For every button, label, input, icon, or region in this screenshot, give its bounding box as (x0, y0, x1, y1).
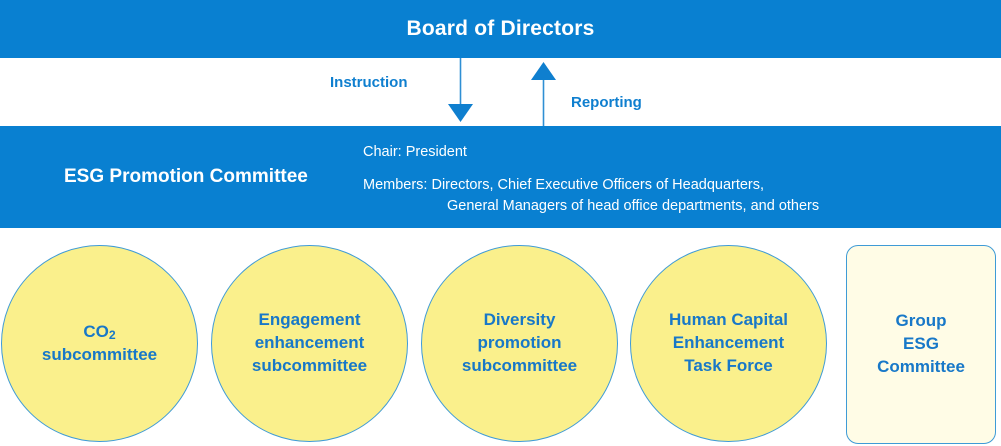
diversity-label-line-2: promotion (477, 333, 561, 352)
group-esg-committee-node[interactable]: Group ESG Committee (846, 245, 996, 444)
esg-promotion-structure-diagram: Board of Directors Instruction Reporting… (0, 0, 1001, 446)
committee-chair-line: Chair: President (363, 142, 983, 163)
group-esg-label-line-3: Committee (877, 357, 965, 376)
committee-members-block: Members: Directors, Chief Executive Offi… (363, 175, 983, 217)
reporting-label: Reporting (571, 94, 642, 111)
subcommittees-row: CO2 subcommittee Engagement enhancement … (0, 243, 1001, 446)
co2-subcommittee-label: CO2 subcommittee (34, 321, 165, 367)
esg-promotion-committee-bar: ESG Promotion Committee Chair: President… (0, 126, 1001, 228)
human-capital-enhancement-task-force-node[interactable]: Human Capital Enhancement Task Force (630, 245, 827, 442)
engagement-label-line-1: Engagement (258, 310, 360, 329)
committee-members-line-2: General Managers of head office departme… (363, 196, 983, 217)
reporting-arrow-icon (531, 62, 556, 126)
engagement-label-line-2: enhancement (255, 333, 365, 352)
diversity-promotion-subcommittee-label: Diversity promotion subcommittee (454, 309, 585, 378)
human-capital-label-line-3: Task Force (684, 356, 773, 375)
instruction-label: Instruction (330, 74, 408, 91)
human-capital-label-line-2: Enhancement (673, 333, 784, 352)
human-capital-label-line-1: Human Capital (669, 310, 788, 329)
flow-arrows-svg (0, 58, 1001, 126)
group-esg-committee-label: Group ESG Committee (869, 310, 973, 379)
diversity-promotion-subcommittee-node[interactable]: Diversity promotion subcommittee (421, 245, 618, 442)
board-of-directors-title: Board of Directors (407, 17, 595, 41)
engagement-label-line-3: subcommittee (252, 356, 367, 375)
co2-subcommittee-label-line-1: CO (83, 322, 109, 341)
committee-members-line-1: Members: Directors, Chief Executive Offi… (363, 177, 764, 193)
group-esg-label-line-2: ESG (903, 334, 939, 353)
engagement-enhancement-subcommittee-label: Engagement enhancement subcommittee (244, 309, 375, 378)
esg-promotion-committee-details: Chair: President Members: Directors, Chi… (363, 142, 983, 217)
instruction-arrow-icon (448, 58, 473, 122)
diversity-label-line-3: subcommittee (462, 356, 577, 375)
diversity-label-line-1: Diversity (484, 310, 556, 329)
co2-subcommittee-label-line-2: subcommittee (42, 345, 157, 364)
human-capital-task-force-label: Human Capital Enhancement Task Force (661, 309, 796, 378)
flow-arrows-region: Instruction Reporting (0, 58, 1001, 126)
board-of-directors-bar: Board of Directors (0, 0, 1001, 58)
group-esg-label-line-1: Group (895, 311, 946, 330)
co2-subcommittee-node[interactable]: CO2 subcommittee (1, 245, 198, 442)
esg-promotion-committee-title: ESG Promotion Committee (64, 166, 308, 188)
co2-subscript: 2 (109, 328, 116, 342)
engagement-enhancement-subcommittee-node[interactable]: Engagement enhancement subcommittee (211, 245, 408, 442)
